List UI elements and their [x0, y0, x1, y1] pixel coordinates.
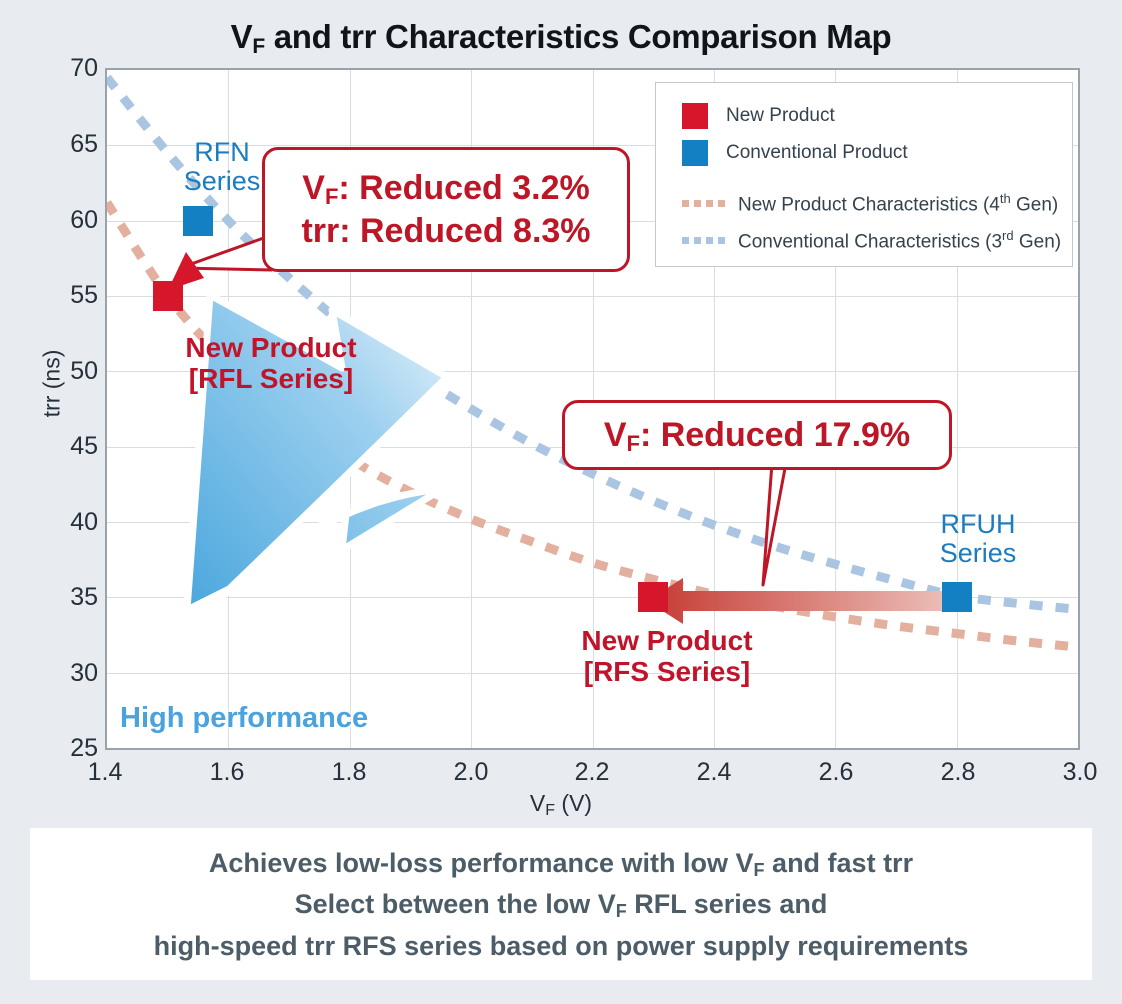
x-tick: 2.6: [796, 758, 876, 787]
x-tick: 2.2: [552, 758, 632, 787]
annotation-rfs-product: New Product[RFS Series]: [537, 625, 797, 688]
caption-panel: Achieves low-loss performance with low V…: [30, 828, 1092, 980]
legend-item-new-product: New Product: [656, 97, 1072, 134]
annotation-high-performance: High performance: [120, 702, 368, 735]
y-tick: 65: [38, 130, 98, 159]
rfs-callout: VF: Reduced 17.9%: [562, 400, 952, 470]
x-tick: 1.4: [65, 758, 145, 787]
legend-dash-pink: [682, 200, 726, 207]
legend-label: Conventional Product: [726, 142, 908, 164]
x-tick: 2.4: [674, 758, 754, 787]
y-axis-label: trr (ns): [39, 304, 66, 464]
callout-line: VF: Reduced 3.2%: [302, 167, 589, 210]
rfs-callout-tail: [700, 455, 860, 600]
legend: New Product Conventional Product New Pro…: [655, 82, 1073, 267]
x-tick: 1.8: [309, 758, 389, 787]
legend-label: New Product Characteristics (4th Gen): [738, 191, 1058, 216]
legend-item-conventional-curve: Conventional Characteristics (3rd Gen): [656, 222, 1072, 259]
y-tick: 60: [38, 206, 98, 235]
legend-item-conventional-product: Conventional Product: [656, 134, 1072, 171]
data-point-rfs[interactable]: [638, 582, 668, 612]
legend-dash-blue: [682, 237, 726, 244]
gridline-vertical: [1078, 70, 1079, 748]
legend-swatch-red: [682, 103, 708, 129]
x-tick: 3.0: [1040, 758, 1120, 787]
legend-swatch-blue: [682, 140, 708, 166]
y-tick: 35: [38, 583, 98, 612]
legend-item-new-curve: New Product Characteristics (4th Gen): [656, 185, 1072, 222]
rfl-callout: VF: Reduced 3.2% trr: Reduced 8.3%: [262, 147, 630, 272]
callout-line: VF: Reduced 17.9%: [604, 414, 910, 457]
x-tick: 2.0: [431, 758, 511, 787]
legend-label: Conventional Characteristics (3rd Gen): [738, 228, 1061, 253]
y-tick: 30: [38, 659, 98, 688]
gridline-horizontal: [107, 748, 1078, 749]
annotation-rfl-product: New Product[RFL Series]: [141, 332, 401, 395]
data-point-rfuh[interactable]: [942, 582, 972, 612]
x-axis-label: VF (V): [0, 790, 1122, 817]
y-tick: 40: [38, 508, 98, 537]
y-tick: 70: [38, 54, 98, 83]
caption-line: high-speed trr RFS series based on power…: [154, 926, 969, 967]
caption-line: Select between the low VF RFL series and: [295, 884, 828, 925]
legend-label: New Product: [726, 105, 835, 127]
x-tick: 2.8: [918, 758, 998, 787]
caption-line: Achieves low-loss performance with low V…: [209, 843, 913, 884]
callout-line: trr: Reduced 8.3%: [301, 210, 590, 253]
legend-spacer: [656, 171, 1072, 185]
gridline-horizontal: [107, 597, 1078, 598]
page-title: VF and trr Characteristics Comparison Ma…: [0, 18, 1122, 56]
annotation-rfuh-series: RFUHSeries: [913, 510, 1043, 568]
x-tick: 1.6: [187, 758, 267, 787]
